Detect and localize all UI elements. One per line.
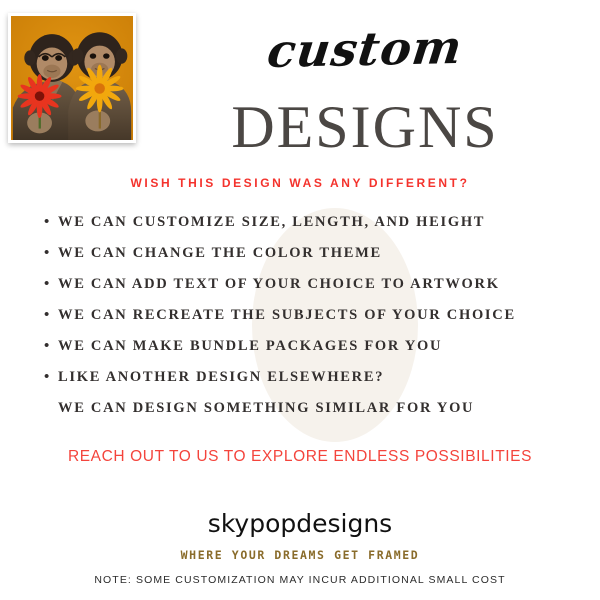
script-heading-custom: custom	[147, 22, 584, 77]
chimpanzees-artwork-illustration	[11, 16, 133, 140]
list-item-label: WE CAN CHANGE THE COLOR THEME	[58, 245, 382, 262]
cta-text: REACH OUT TO US TO EXPLORE ENDLESS POSSI…	[0, 448, 600, 466]
feature-list: • WE CAN CUSTOMIZE SIZE, LENGTH, AND HEI…	[44, 214, 589, 431]
list-item-label: WE CAN MAKE BUNDLE PACKAGES FOR YOU	[58, 338, 442, 355]
bullet-icon: •	[44, 370, 58, 385]
list-item-label: WE CAN DESIGN SOMETHING SIMILAR FOR YOU	[58, 400, 474, 417]
list-item: • WE CAN CHANGE THE COLOR THEME	[44, 245, 589, 276]
list-item: • WE CAN RECREATE THE SUBJECTS OF YOUR C…	[44, 307, 589, 338]
promo-canvas: custom DESIGNS WISH THIS DESIGN WAS ANY …	[0, 0, 600, 600]
bullet-icon: •	[44, 339, 58, 354]
list-item: • LIKE ANOTHER DESIGN ELSEWHERE?	[44, 369, 589, 400]
brand-tagline: WHERE YOUR DREAMS GET FRAMED	[0, 548, 600, 562]
footer-note: NOTE: SOME CUSTOMIZATION MAY INCUR ADDIT…	[0, 574, 600, 586]
brand-logo-text: skypopdesigns	[0, 509, 600, 538]
bullet-icon: •	[44, 246, 58, 261]
bullet-icon: •	[44, 215, 58, 230]
bullet-icon: •	[44, 308, 58, 323]
page-title-designs: DESIGNS	[150, 96, 580, 159]
bullet-icon: •	[44, 277, 58, 292]
product-photo[interactable]	[8, 13, 136, 143]
subheading-question: WISH THIS DESIGN WAS ANY DIFFERENT?	[0, 176, 600, 190]
list-item: • WE CAN ADD TEXT OF YOUR CHOICE TO ARTW…	[44, 276, 589, 307]
list-item-label: LIKE ANOTHER DESIGN ELSEWHERE?	[58, 369, 384, 386]
list-item-label: WE CAN ADD TEXT OF YOUR CHOICE TO ARTWOR…	[58, 276, 500, 293]
list-item-label: WE CAN RECREATE THE SUBJECTS OF YOUR CHO…	[58, 307, 516, 324]
list-item: • WE CAN CUSTOMIZE SIZE, LENGTH, AND HEI…	[44, 214, 589, 245]
list-item-continuation: • WE CAN DESIGN SOMETHING SIMILAR FOR YO…	[44, 400, 589, 431]
list-item: • WE CAN MAKE BUNDLE PACKAGES FOR YOU	[44, 338, 589, 369]
list-item-label: WE CAN CUSTOMIZE SIZE, LENGTH, AND HEIGH…	[58, 214, 485, 231]
